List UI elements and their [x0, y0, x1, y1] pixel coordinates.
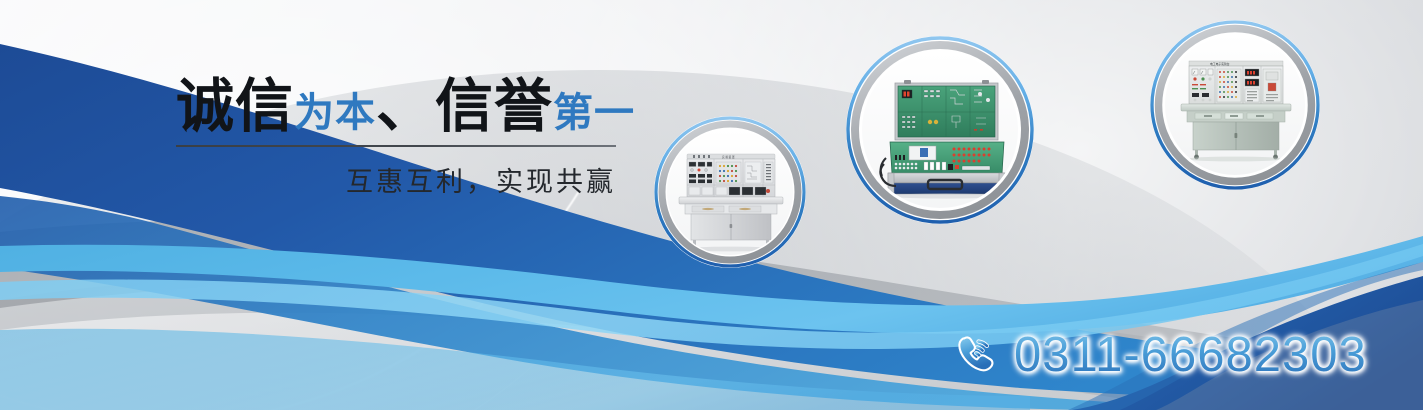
- phone-number-wrap: 0311-66682303 0311-66682303: [1014, 327, 1367, 383]
- phone-call-icon: [952, 329, 1000, 382]
- medallion-portable-electronics-trainer-case: [846, 36, 1034, 224]
- phone-number[interactable]: 0311-66682303: [1014, 328, 1367, 382]
- headline-part-3: 、: [376, 74, 435, 139]
- contact-phone-group[interactable]: 0311-66682303 0311-66682303: [952, 327, 1367, 383]
- medallion-electrical-training-workbench: 实 验 装 置: [654, 116, 806, 268]
- svg-text:电工电子实验台: 电工电子实验台: [1210, 62, 1230, 66]
- headline-divider: [176, 145, 616, 147]
- headline-part-4: 信誉: [435, 74, 553, 139]
- medallion-power-electronics-workbench: 电工电子实验台: [1150, 20, 1320, 190]
- promotional-banner: 诚信为本、信誉第一 互惠互利，实现共赢: [0, 0, 1423, 410]
- headline-part-5: 第一: [553, 91, 635, 135]
- headline: 诚信为本、信誉第一: [176, 78, 635, 136]
- svg-text:实 验 装 置: 实 验 装 置: [722, 155, 735, 159]
- headline-part-2: 为本: [294, 91, 376, 135]
- subtitle: 互惠互利，实现共赢: [176, 160, 616, 199]
- product-photo-2: [862, 52, 1018, 208]
- product-photo-3: 电工电子实验台: [1165, 35, 1305, 175]
- product-photo-1: 实 验 装 置: [667, 129, 793, 255]
- headline-part-1: 诚信: [176, 74, 294, 139]
